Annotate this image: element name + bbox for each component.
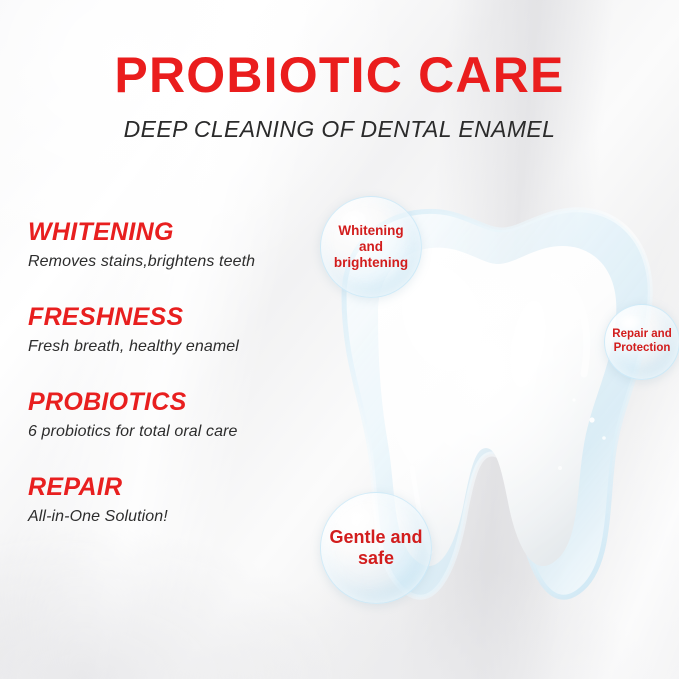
bubble-whitening: Whitening and brightening (320, 196, 422, 298)
feature-title: PROBIOTICS (28, 388, 328, 417)
bubble-label: Whitening and brightening (321, 223, 421, 271)
feature-description: 6 probiotics for total oral care (28, 423, 328, 441)
feature-item-freshness: FRESHNESS Fresh breath, healthy enamel (28, 303, 328, 356)
bubble-gentle: Gentle and safe (320, 492, 432, 604)
bubble-repair: Repair and Protection (604, 304, 679, 380)
page-title: PROBIOTIC CARE (0, 49, 679, 102)
bubble-label: Gentle and safe (321, 527, 431, 569)
feature-description: Removes stains,brightens teeth (28, 253, 328, 271)
feature-description: Fresh breath, healthy enamel (28, 338, 328, 356)
product-poster: PROBIOTIC CARE DEEP CLEANING OF DENTAL E… (0, 0, 679, 679)
feature-item-repair: REPAIR All-in-One Solution! (28, 473, 328, 526)
feature-item-whitening: WHITENING Removes stains,brightens teeth (28, 218, 328, 271)
feature-title: WHITENING (28, 218, 328, 247)
bubble-label: Repair and Protection (605, 328, 679, 355)
feature-list: WHITENING Removes stains,brightens teeth… (28, 218, 328, 558)
feature-description: All-in-One Solution! (28, 508, 328, 526)
feature-title: REPAIR (28, 473, 328, 502)
feature-item-probiotics: PROBIOTICS 6 probiotics for total oral c… (28, 388, 328, 441)
page-subtitle: DEEP CLEANING OF DENTAL ENAMEL (0, 116, 679, 143)
feature-title: FRESHNESS (28, 303, 328, 332)
